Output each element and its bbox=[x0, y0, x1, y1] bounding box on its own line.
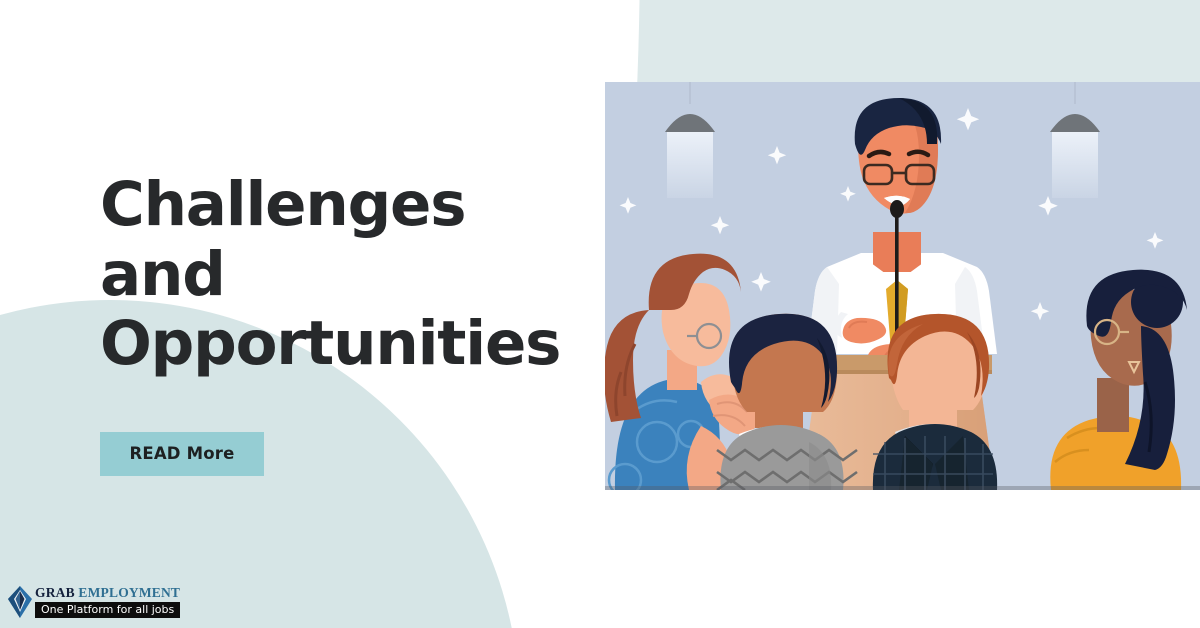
logo-brand-first: GRAB bbox=[35, 585, 75, 600]
banner-text-column: Challenges and Opportunities READ More bbox=[100, 170, 570, 476]
read-more-button[interactable]: READ More bbox=[100, 432, 264, 476]
illustration-svg bbox=[605, 82, 1200, 490]
site-logo[interactable]: GRAB EMPLOYMENT One Platform for all job… bbox=[8, 586, 180, 618]
logo-tagline: One Platform for all jobs bbox=[35, 602, 180, 618]
page-title: Challenges and Opportunities bbox=[100, 170, 570, 379]
conference-speaker-illustration bbox=[605, 82, 1200, 490]
logo-brand-second: EMPLOYMENT bbox=[78, 585, 180, 600]
logo-text: GRAB EMPLOYMENT One Platform for all job… bbox=[35, 586, 180, 618]
grab-employment-diamond-mark bbox=[8, 586, 32, 618]
logo-brand-line: GRAB EMPLOYMENT bbox=[35, 586, 180, 600]
